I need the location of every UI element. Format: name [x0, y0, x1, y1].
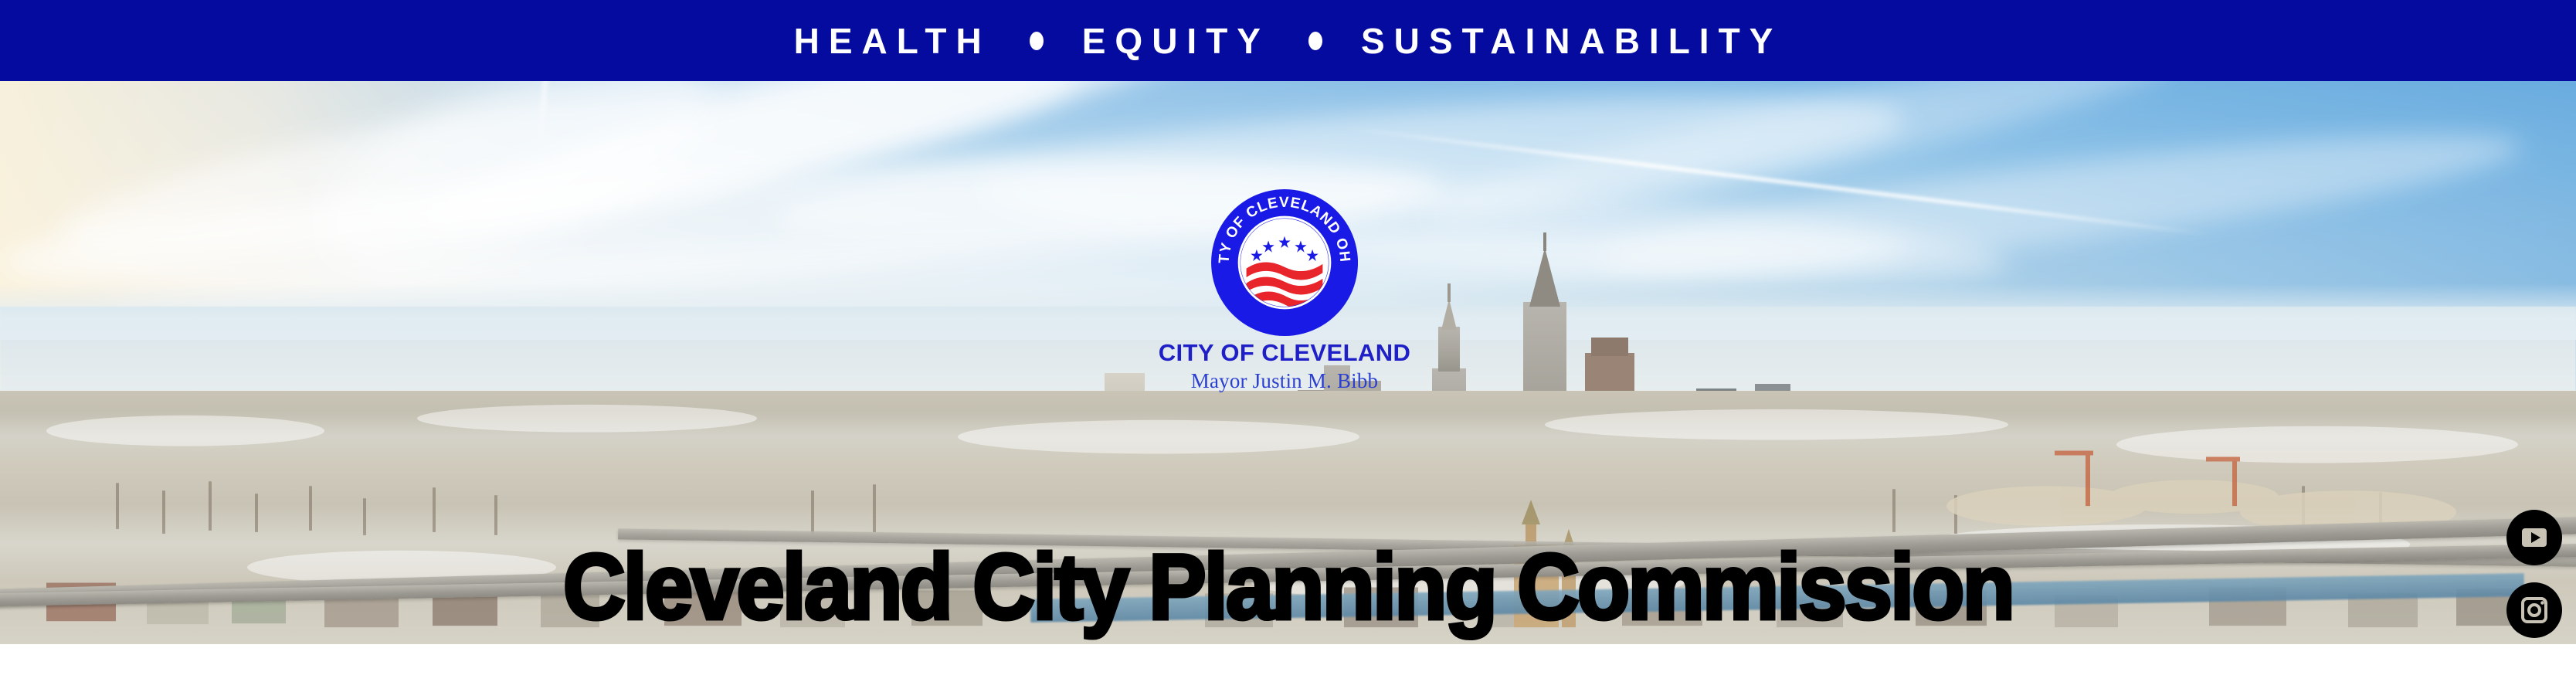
social-links	[2506, 510, 2562, 644]
top-banner: HEALTH EQUITY SUSTAINABILITY	[0, 0, 2576, 81]
logo-mayor-subtitle: Mayor Justin M. Bibb	[1084, 369, 1485, 393]
bullet-dot-icon	[1308, 32, 1322, 50]
banner-word-health: HEALTH	[794, 23, 991, 59]
hero-photo: CITY OF CLEVELAND OHIO CITY OF CLEVELAND…	[0, 81, 2576, 644]
instagram-icon[interactable]	[2506, 582, 2562, 638]
page-title: Cleveland City Planning Commission	[90, 541, 2486, 633]
banner-tagline: HEALTH EQUITY SUSTAINABILITY	[794, 23, 1783, 59]
bullet-dot-icon	[1030, 32, 1044, 50]
banner-word-sustainability: SUSTAINABILITY	[1361, 23, 1782, 59]
bottom-white-strip	[0, 644, 2576, 682]
youtube-icon[interactable]	[2506, 510, 2562, 565]
city-of-cleveland-seal-icon: CITY OF CLEVELAND OHIO	[1211, 189, 1358, 336]
logo-city-title: CITY OF CLEVELAND	[1084, 341, 1485, 366]
city-logo-block: CITY OF CLEVELAND OHIO CITY OF CLEVELAND…	[1084, 189, 1485, 393]
banner-word-equity: EQUITY	[1082, 23, 1270, 59]
